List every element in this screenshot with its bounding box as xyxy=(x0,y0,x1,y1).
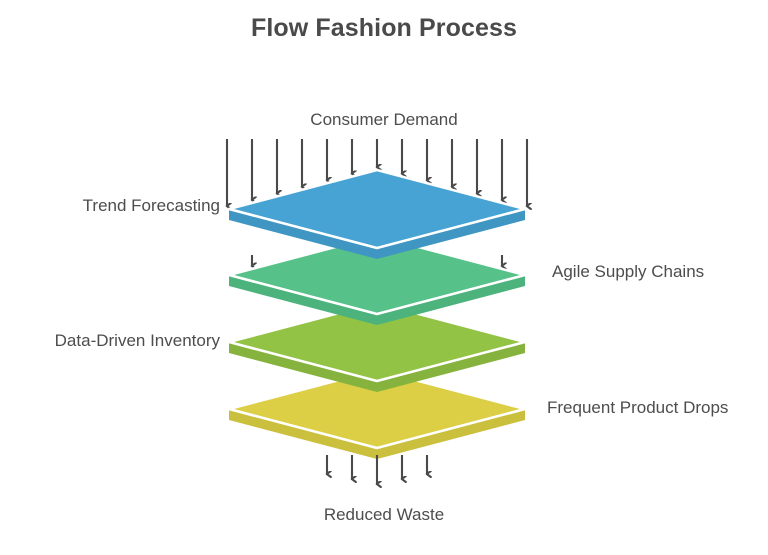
arrow-row-output xyxy=(327,455,427,484)
layer-label-frequent-product-drops: Frequent Product Drops xyxy=(547,398,728,418)
layer-label-agile-supply-chains: Agile Supply Chains xyxy=(552,262,704,282)
layer-label-trend-forecasting: Trend Forecasting xyxy=(83,196,220,216)
input-label: Consumer Demand xyxy=(0,110,768,130)
layer-label-data-driven-inventory: Data-Driven Inventory xyxy=(55,331,220,351)
output-label: Reduced Waste xyxy=(0,505,768,525)
layer-plate-0 xyxy=(229,170,525,259)
